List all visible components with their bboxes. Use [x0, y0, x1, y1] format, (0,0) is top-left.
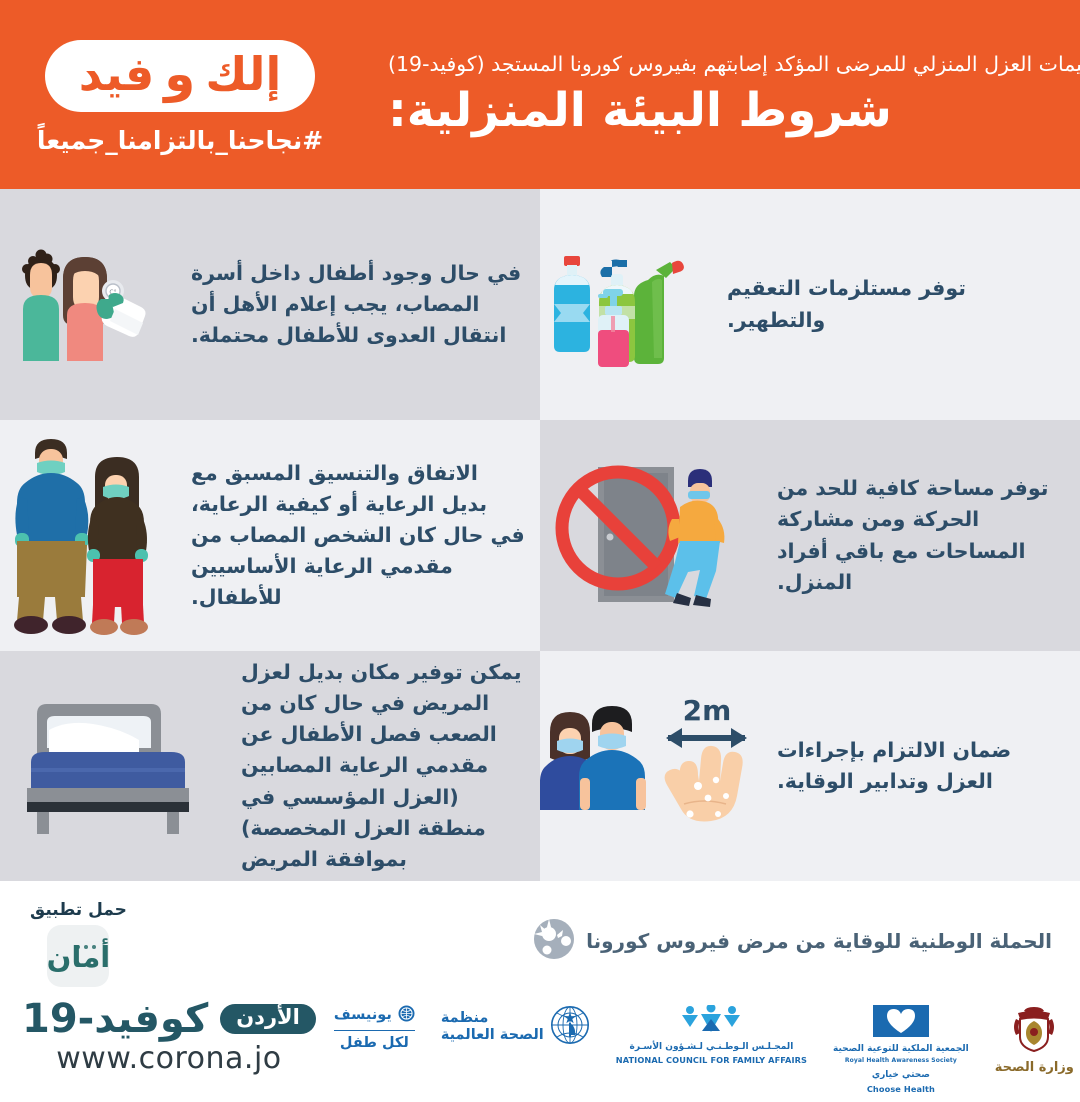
- header-banner: إلك و فيد #نجاحنا_بالتزامنا_جميعاً تعليم…: [0, 0, 1080, 189]
- page-title: شروط البيئة المنزلية:: [388, 85, 892, 137]
- corona-website-url[interactable]: www.corona.jo: [56, 1041, 281, 1076]
- header-titles: تعليمات العزل المنزلي للمرضى المؤكد إصاب…: [360, 52, 1080, 137]
- jordan-badge: الأردن: [220, 1004, 316, 1034]
- unicef-tagline-ar: لكل طفل: [340, 1035, 409, 1052]
- rhas-slogan-ar: صحتي خياري: [872, 1070, 930, 1080]
- children-thermometer-icon: °C: [0, 189, 165, 420]
- aman-app-icon[interactable]: أمان: [47, 925, 109, 987]
- logo-rhas: الجمعية الملكية للتوعية الصحية Royal Hea…: [833, 1005, 969, 1094]
- footer: حمل تطبيق أمان: [0, 881, 1080, 1102]
- footer-top-row: حمل تطبيق أمان: [0, 881, 1080, 999]
- card-sufficient-space: توفر مساحة كافية للحد من الحركة ومن مشار…: [540, 420, 1080, 651]
- moh-name-ar: وزارة الصحة: [995, 1060, 1074, 1075]
- unicef-name-ar: يونيسف: [334, 1007, 392, 1024]
- logo-moh: وزارة الصحة: [995, 1005, 1074, 1075]
- card-children-in-household: في حال وجود أطفال داخل أسرة المصاب، يجب …: [0, 189, 540, 420]
- card-text: الاتفاق والتنسيق المسبق مع بديل الرعاية …: [165, 458, 540, 614]
- card-text: توفر مساحة كافية للحد من الحركة ومن مشار…: [755, 473, 1080, 598]
- card-text: يمكن توفير مكان بديل لعزل المريض في حال …: [215, 657, 540, 875]
- brand-logo-pill: إلك و فيد: [45, 40, 315, 112]
- covid-line: كوفيد-19 الأردن: [22, 999, 316, 1039]
- ncfa-name-ar: المجـلـس الـوطـنـي لـشـؤون الأسـرة: [630, 1042, 794, 1052]
- hospital-bed-icon: [0, 651, 215, 881]
- brand-block: إلك و فيد #نجاحنا_بالتزامنا_جميعاً: [0, 34, 360, 155]
- covid-jordan-block[interactable]: كوفيد-19 الأردن www.corona.jo: [22, 999, 330, 1076]
- logo-who: منظمة الصحة العالمية: [441, 1005, 590, 1049]
- aman-dots-decoration: [72, 934, 96, 953]
- card-alternative-isolation-place: يمكن توفير مكان بديل لعزل المريض في حال …: [0, 651, 540, 881]
- card-isolation-commitment: ضمان الالتزام بإجراءات العزل وتدابير الو…: [540, 651, 1080, 881]
- who-name-ar-bottom: الصحة العالمية: [441, 1027, 544, 1044]
- campaign-hashtag: #نجاحنا_بالتزامنا_جميعاً: [37, 126, 323, 155]
- card-sanitizing-supplies: توفر مستلزمات التعقيم والتطهير.: [540, 189, 1080, 420]
- ncfa-name-en: NATIONAL COUNCIL FOR FAMILY AFFAIRS: [616, 1055, 807, 1065]
- who-logo-icon: [550, 1005, 590, 1049]
- campaign-block: الحملة الوطنية للوقاية من مرض فيروس كورو…: [532, 917, 1052, 969]
- ncfa-logo-icon: [678, 1005, 744, 1039]
- cleaning-bottles-icon: [540, 189, 705, 420]
- aman-download-label: حمل تطبيق: [30, 900, 127, 920]
- who-name-ar-top: منظمة: [441, 1010, 489, 1027]
- who-logo-row: منظمة الصحة العالمية: [441, 1005, 590, 1049]
- logo-ncfa: المجـلـس الـوطـنـي لـشـؤون الأسـرة NATIO…: [616, 1005, 807, 1065]
- unicef-logo-icon: [398, 1005, 415, 1026]
- rhas-name-ar: الجمعية الملكية للتوعية الصحية: [833, 1044, 969, 1054]
- masked-couple-icon: [0, 420, 165, 651]
- globe-emblem-icon: [532, 917, 576, 965]
- card-text: ضمان الالتزام بإجراءات العزل وتدابير الو…: [755, 735, 1080, 797]
- card-alternative-caregiver: الاتفاق والتنسيق المسبق مع بديل الرعاية …: [0, 420, 540, 651]
- brand-conjunction: و: [164, 49, 195, 99]
- infographic-poster: إلك و فيد #نجاحنا_بالتزامنا_جميعاً تعليم…: [0, 0, 1080, 1080]
- jordan-emblem-icon: [1008, 1005, 1060, 1057]
- covid-label: كوفيد-19: [22, 999, 208, 1039]
- brand-word-right: إلك: [205, 51, 281, 97]
- brand-word-left: فيد: [79, 51, 154, 97]
- card-text: في حال وجود أطفال داخل أسرة المصاب، يجب …: [165, 258, 540, 351]
- campaign-title: الحملة الوطنية للوقاية من مرض فيروس كورو…: [586, 929, 1052, 953]
- footer-bottom-row: كوفيد-19 الأردن www.corona.jo يونيسف: [0, 999, 1080, 1102]
- rhas-slogan-en: Choose Health: [867, 1084, 935, 1094]
- aman-app-block[interactable]: حمل تطبيق أمان: [30, 900, 127, 987]
- unicef-logo-row: يونيسف: [334, 1005, 415, 1026]
- rhas-name-en: Royal Health Awareness Society: [845, 1057, 957, 1064]
- svg-text:2m: 2m: [683, 694, 732, 727]
- header-subtitle: تعليمات العزل المنزلي للمرضى المؤكد إصاب…: [388, 52, 1080, 78]
- partner-logos: يونيسف لكل طفل: [330, 999, 1074, 1094]
- card-text: توفر مستلزمات التعقيم والتطهير.: [705, 273, 1080, 335]
- conditions-grid: توفر مستلزمات التعقيم والتطهير.: [0, 189, 1080, 881]
- heart-logo-icon: [873, 1005, 929, 1041]
- no-entry-door-icon: [540, 420, 755, 651]
- logo-unicef: يونيسف لكل طفل: [334, 1005, 415, 1052]
- unicef-divider: [334, 1030, 415, 1031]
- distancing-handwash-icon: 2m: [540, 651, 755, 881]
